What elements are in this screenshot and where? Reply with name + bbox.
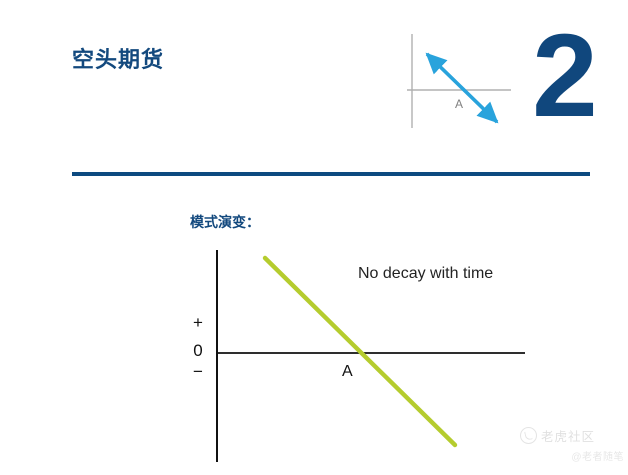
page-title: 空头期货: [72, 42, 164, 74]
payoff-chart: [180, 240, 550, 470]
thumbnail-svg: A: [405, 30, 515, 135]
header-thumbnail-diagram: A: [405, 30, 515, 135]
tiger-circle-icon: [520, 427, 537, 444]
slide-number: 2: [520, 14, 610, 139]
header-divider: [72, 172, 590, 176]
payoff-chart-svg: [180, 240, 550, 470]
chart-point-label-a: A: [342, 363, 353, 381]
chart-caption: 模式演变：: [190, 212, 260, 232]
thumbnail-arrow-down: [427, 54, 497, 122]
slide-canvas: 空头期货 A 2 模式演变： No decay with time + 0 −: [0, 0, 628, 475]
watermark-name: 老虎社区: [541, 426, 595, 445]
watermark: 老虎社区 @老者随笔: [520, 426, 624, 470]
payoff-line: [265, 258, 455, 445]
watermark-brand-row: 老虎社区: [520, 426, 624, 445]
watermark-handle: @老者随笔: [520, 448, 624, 463]
thumbnail-point-label: A: [455, 97, 463, 111]
